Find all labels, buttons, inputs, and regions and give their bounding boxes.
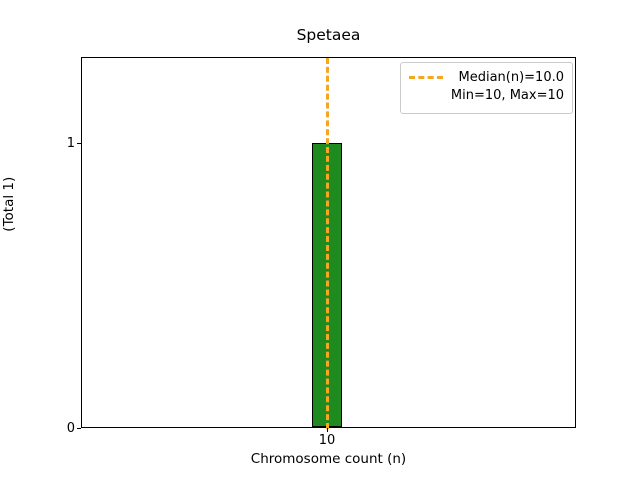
x-axis-label: Chromosome count (n): [81, 453, 576, 467]
legend-entry-label: Median(n)=10.0 Min=10, Max=10: [450, 69, 564, 106]
x-tick-mark-10: [327, 428, 328, 432]
y-tick-mark-0: [77, 428, 81, 429]
chart-figure: Spetaea Normalized num of counts (Total …: [0, 0, 640, 480]
legend-entry-line1: Median(n)=10.0: [450, 69, 564, 87]
legend-entry-median[interactable]: Median(n)=10.0 Min=10, Max=10: [409, 69, 564, 106]
page-title: Spetaea: [81, 28, 576, 44]
x-tick-label-10: 10: [319, 434, 336, 447]
legend-entry-line2: Min=10, Max=10: [450, 87, 564, 105]
legend[interactable]: Median(n)=10.0 Min=10, Max=10: [400, 62, 573, 114]
median-line: [326, 58, 329, 429]
y-axis-label: Normalized num of counts (Total 1): [0, 4, 18, 404]
y-tick-label-1: 1: [57, 137, 75, 150]
y-axis-label-line2: (Total 1): [0, 4, 18, 404]
dashed-line-icon: [409, 69, 443, 85]
y-tick-label-0: 0: [57, 422, 75, 435]
